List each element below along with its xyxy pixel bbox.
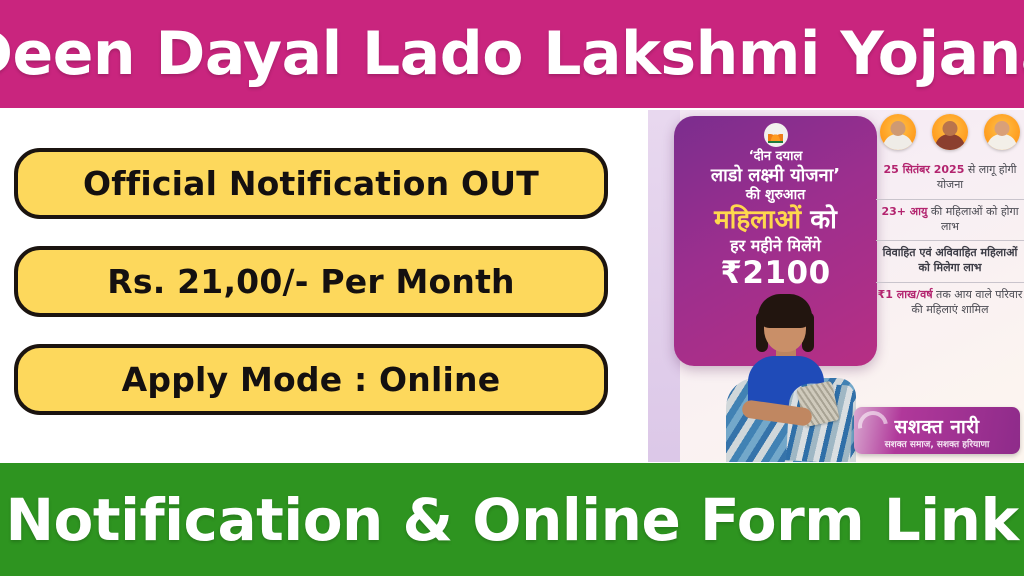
poster-bullet-item: ₹1 लाख/वर्ष तक आय वाले परिवार की महिलाएं… xyxy=(876,283,1024,324)
pill-label: Rs. 21,00/- Per Month xyxy=(107,262,515,301)
sashakt-naari-badge: सशक्त नारी सशक्त समाज, सशक्त हरियाणा xyxy=(854,407,1020,454)
footer-banner: Notification & Online Form Link xyxy=(0,463,1024,576)
portrait-leader-1 xyxy=(880,114,916,150)
poster-card-line-2: लाडो लक्ष्मी योजना’ xyxy=(680,166,871,186)
poster-card-line-4: महिलाओं को xyxy=(680,206,871,235)
badge-subtitle: सशक्त समाज, सशक्त हरियाणा xyxy=(854,437,1020,450)
bullet-text: विवाहित एवं अविवाहित महिलाओं को मिलेगा ल… xyxy=(883,246,1018,274)
poster-card-line-5: हर महीने मिलेंगे xyxy=(680,237,871,255)
badge-title: सशक्त नारी xyxy=(854,413,1020,439)
bullet-emphasis: 25 सितंबर 2025 xyxy=(883,163,964,176)
highlight-pill-list: Official Notification OUT Rs. 21,00/- Pe… xyxy=(14,148,608,442)
poster-card-line-4-rest: को xyxy=(810,205,837,235)
leader-portrait-row xyxy=(880,114,1020,150)
poster-bullet-item: 23+ आयु की महिलाओं को होगा लाभ xyxy=(876,200,1024,242)
highlight-pill-notification[interactable]: Official Notification OUT xyxy=(14,148,608,219)
poster-bullet-list: 25 सितंबर 2025 से लागू होगी योजना 23+ आय… xyxy=(876,158,1024,324)
pill-label: Official Notification OUT xyxy=(83,164,539,203)
poster-card-line-3: की शुरुआत xyxy=(680,188,871,204)
main-content: Official Notification OUT Rs. 21,00/- Pe… xyxy=(0,108,1024,463)
poster-card-amount: ₹2100 xyxy=(680,256,871,291)
bullet-text: की महिलाओं को होगा लाभ xyxy=(927,205,1018,233)
poster-bullet-item: विवाहित एवं अविवाहित महिलाओं को मिलेगा ल… xyxy=(876,241,1024,283)
poster-card-line-1: ‘दीन दयाल xyxy=(680,150,871,165)
highlight-pill-apply-mode[interactable]: Apply Mode : Online xyxy=(14,344,608,415)
bullet-emphasis: 23+ आयु xyxy=(881,205,927,218)
bullet-emphasis: ₹1 लाख/वर्ष xyxy=(878,288,933,301)
poster-bullet-item: 25 सितंबर 2025 से लागू होगी योजना xyxy=(876,158,1024,200)
pill-label: Apply Mode : Online xyxy=(122,360,501,399)
woman-holding-cash-photo xyxy=(696,292,868,462)
portrait-leader-3 xyxy=(984,114,1020,150)
highlight-pill-amount[interactable]: Rs. 21,00/- Per Month xyxy=(14,246,608,317)
scheme-poster-image: ‘दीन दयाल लाडो लक्ष्मी योजना’ की शुरुआत … xyxy=(648,110,1024,462)
portrait-leader-2 xyxy=(932,114,968,150)
bjp-lotus-icon xyxy=(764,123,788,147)
footer-title: Notification & Online Form Link xyxy=(5,491,1018,549)
page-title: Deen Dayal Lado Lakshmi Yojana xyxy=(0,24,1024,84)
header-banner: Deen Dayal Lado Lakshmi Yojana xyxy=(0,0,1024,108)
poster-card-line-4-highlight: महिलाओं xyxy=(714,205,801,235)
